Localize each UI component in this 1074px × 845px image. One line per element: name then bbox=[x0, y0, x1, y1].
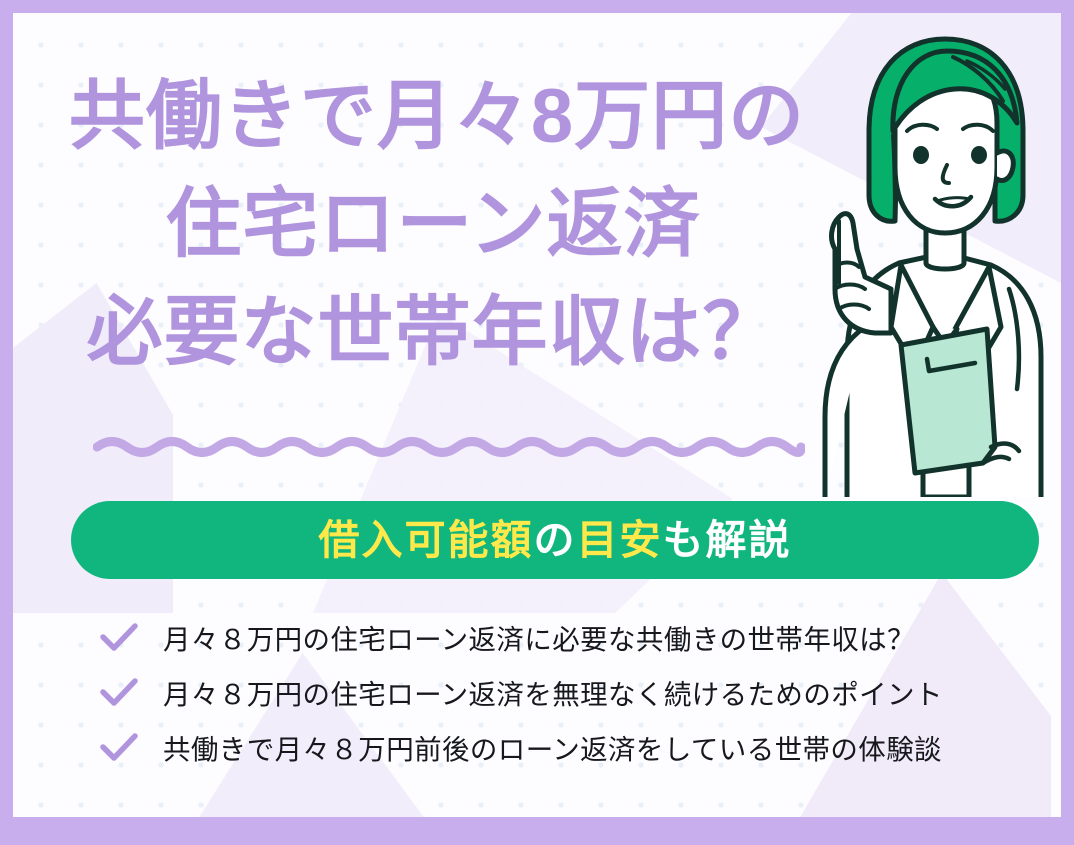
list-item-label: 共働きで月々８万円前後のローン返済をしている世帯の体験談 bbox=[163, 727, 942, 767]
feature-list: 月々８万円の住宅ローン返済に必要な共働きの世帯年収は？ 月々８万円の住宅ローン返… bbox=[99, 609, 1039, 774]
headline-line-2: 住宅ローン返済 bbox=[13, 171, 853, 279]
pill-segment-4: も解説 bbox=[663, 517, 792, 563]
list-item: 月々８万円の住宅ローン返済を無理なく続けるためのポイント bbox=[99, 664, 1039, 719]
pill-segment-2: の bbox=[534, 517, 577, 563]
woman-pointing-up-illustration bbox=[795, 27, 1061, 497]
page-title: 共働きで月々8万円の 住宅ローン返済 必要な世帯年収は？ bbox=[13, 63, 853, 387]
banner-card: 共働きで月々8万円の 住宅ローン返済 必要な世帯年収は？ 借入可能額の目安も解説… bbox=[13, 13, 1061, 817]
check-icon bbox=[99, 621, 139, 653]
headline-line-3: 必要な世帯年収は？ bbox=[13, 279, 853, 387]
pill-segment-1: 借入可能額 bbox=[319, 517, 534, 563]
headline-line-1: 共働きで月々8万円の bbox=[13, 63, 853, 171]
promo-banner: 共働きで月々8万円の 住宅ローン返済 必要な世帯年収は？ 借入可能額の目安も解説… bbox=[0, 0, 1074, 845]
pill-segment-3: 目安 bbox=[577, 517, 663, 563]
list-item: 月々８万円の住宅ローン返済に必要な共働きの世帯年収は？ bbox=[99, 609, 1039, 664]
list-item: 共働きで月々８万円前後のローン返済をしている世帯の体験談 bbox=[99, 719, 1039, 774]
wavy-divider-icon bbox=[93, 435, 805, 469]
check-icon bbox=[99, 731, 139, 763]
subtitle-pill: 借入可能額の目安も解説 bbox=[71, 501, 1039, 579]
list-item-label: 月々８万円の住宅ローン返済に必要な共働きの世帯年収は？ bbox=[163, 617, 915, 657]
subtitle-pill-text: 借入可能額の目安も解説 bbox=[319, 520, 792, 561]
list-item-label: 月々８万円の住宅ローン返済を無理なく続けるためのポイント bbox=[163, 672, 943, 712]
check-icon bbox=[99, 676, 139, 708]
